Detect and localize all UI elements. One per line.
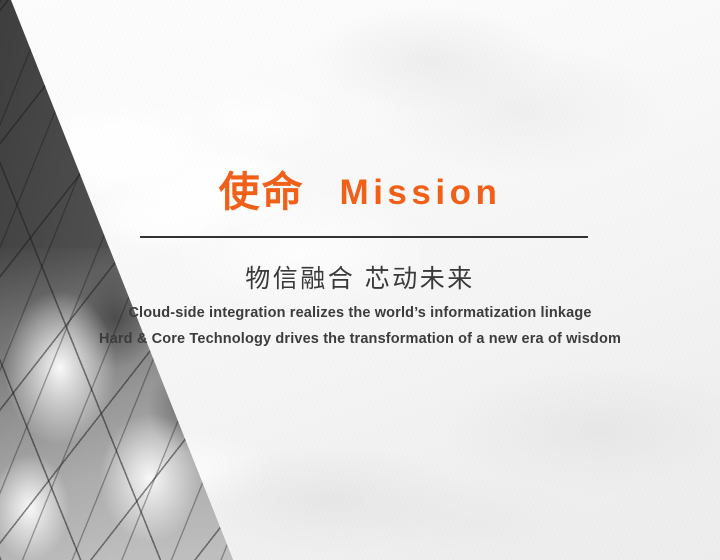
heading-chinese: 使命 — [219, 172, 305, 213]
heading-english: Mission — [340, 175, 502, 210]
mission-banner: 使命 Mission 物信融合 芯动未来 Cloud-side integrat… — [0, 0, 720, 560]
subtitle-english-line-1: Cloud-side integration realizes the worl… — [0, 305, 720, 321]
banner-content: 使命 Mission 物信融合 芯动未来 Cloud-side integrat… — [0, 0, 720, 560]
heading-divider-rule — [140, 236, 588, 238]
subtitle-chinese: 物信融合 芯动未来 — [0, 259, 720, 295]
subtitle-english-line-2: Hard & Core Technology drives the transf… — [0, 331, 720, 347]
banner-heading: 使命 Mission — [0, 172, 720, 213]
